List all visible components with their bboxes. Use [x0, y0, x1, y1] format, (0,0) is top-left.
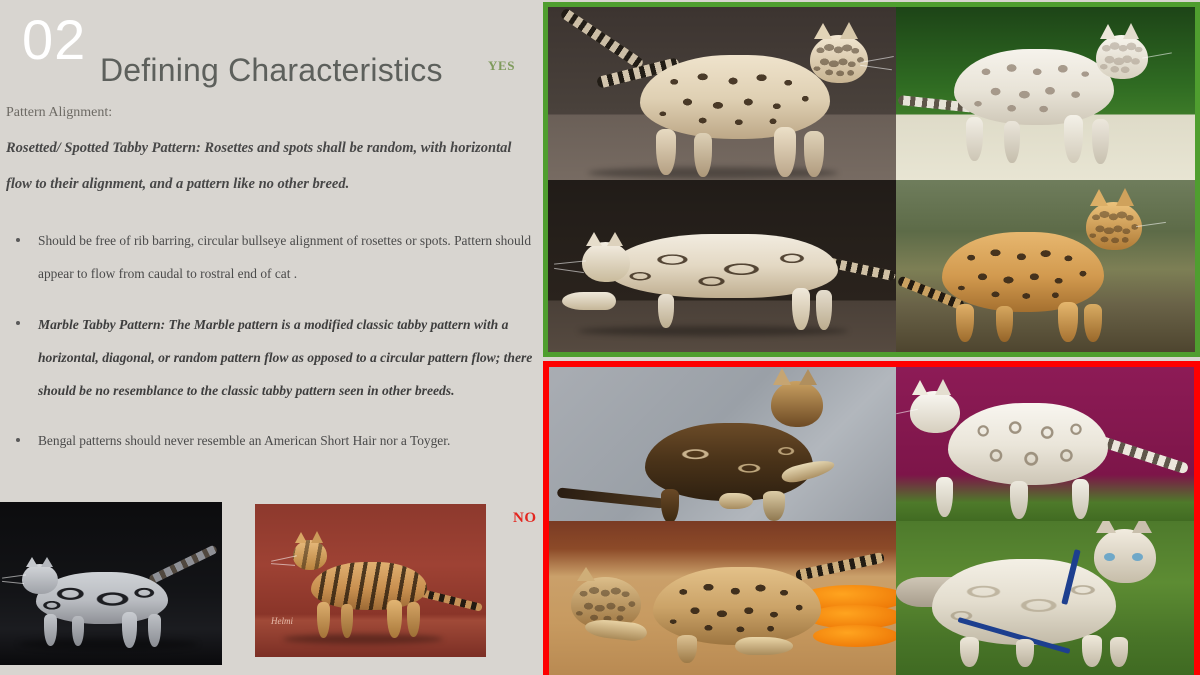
gallery-photo-snow-marble-bengal-grass[interactable] [896, 521, 1194, 675]
lead-paragraph: Rosetted/ Spotted Tabby Pattern: Rosette… [6, 131, 531, 202]
list-item: Should be free of rib barring, circular … [6, 225, 540, 291]
slide-number: 02 [22, 12, 86, 68]
gallery-photo-golden-rosetted-bengal-field[interactable] [896, 180, 1195, 353]
gallery-photo-snow-marble-bengal-stretch[interactable] [548, 180, 896, 353]
rejected-pattern-gallery [543, 361, 1200, 675]
gallery-photo-bengal-indoors-toy[interactable] [549, 521, 896, 675]
no-marker-label: NO [513, 510, 537, 527]
yes-marker-label: YES [488, 58, 515, 74]
gallery-photo-brown-rosetted-bengal[interactable] [548, 7, 896, 180]
photo-signature: Helmi [271, 616, 293, 626]
counterexample-photo-striped-toyger: Helmi [255, 504, 486, 657]
counterexample-photo-silver-marble [0, 502, 222, 665]
slide-text-panel: 02 Defining Characteristics YES NO Patte… [0, 0, 543, 675]
gallery-photo-dark-marble-kitten[interactable] [549, 367, 896, 521]
section-label: Pattern Alignment: [6, 105, 112, 121]
bullet-list: Should be free of rib barring, circular … [6, 225, 540, 474]
gallery-photo-snow-rosetted-bengal-garden[interactable] [896, 7, 1195, 180]
page-title: Defining Characteristics [100, 52, 443, 89]
list-item: Bengal patterns should never resemble an… [6, 425, 540, 458]
list-item: Marble Tabby Pattern: The Marble pattern… [6, 308, 540, 408]
approved-pattern-gallery [543, 2, 1200, 357]
gallery-photo-snow-bullseye-bengal-magenta[interactable] [896, 367, 1194, 521]
